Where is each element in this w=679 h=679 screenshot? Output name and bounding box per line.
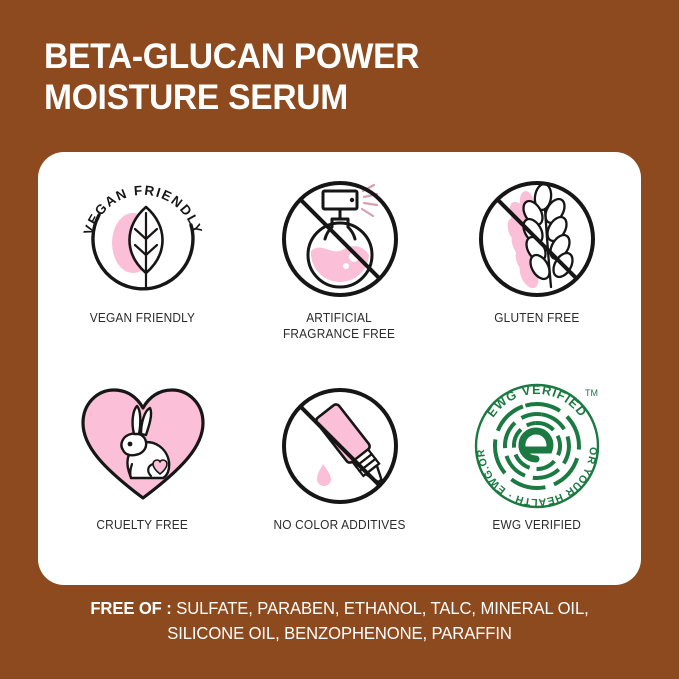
- rabbit-in-heart-icon: [68, 373, 218, 513]
- title-line-1: BETA-GLUCAN POWER: [44, 36, 620, 77]
- badge-label-gluten-free: GLUTEN FREE: [494, 310, 579, 326]
- badge-label-no-color-additives: NO COLOR ADDITIVES: [273, 517, 405, 533]
- badge-label-artificial-fragrance-free: ARTIFICIAL FRAGRANCE FREE: [283, 310, 395, 342]
- badge-cell-cruelty-free: CRUELTY FREE: [44, 373, 241, 580]
- badge-label-line-2: FRAGRANCE FREE: [283, 326, 395, 342]
- ewg-seal-trademark: TM: [585, 388, 598, 398]
- badge-label-cruelty-free: CRUELTY FREE: [97, 517, 189, 533]
- free-of-block: FREE OF : SULFATE, PARABEN, ETHANOL, TAL…: [0, 596, 679, 646]
- ewg-verified-seal-icon: EWG VERIFIED FOR YOUR HEALTH · EWG.ORG T…: [462, 373, 612, 513]
- badge-cell-ewg-verified: EWG VERIFIED FOR YOUR HEALTH · EWG.ORG T…: [438, 373, 635, 580]
- badge-cell-gluten-free: GLUTEN FREE: [438, 166, 635, 373]
- badge-label-ewg-verified: EWG VERIFIED: [492, 517, 581, 533]
- product-infographic: BETA-GLUCAN POWER MOISTURE SERUM: [0, 0, 679, 679]
- free-of-line-1: FREE OF : SULFATE, PARABEN, ETHANOL, TAL…: [17, 596, 662, 621]
- badge-card: VEGAN FRIENDLY VEGAN FRIENDLY: [38, 152, 641, 585]
- wheat-stalk-icon: [462, 166, 612, 306]
- leaf-in-circle-icon: VEGAN FRIENDLY: [68, 166, 218, 306]
- badge-label-line-1: ARTIFICIAL: [283, 310, 395, 326]
- perfume-spray-bottle-icon: [265, 166, 415, 306]
- badge-grid: VEGAN FRIENDLY VEGAN FRIENDLY: [38, 152, 641, 585]
- title-line-2: MOISTURE SERUM: [44, 77, 620, 118]
- badge-cell-no-color-additives: NO COLOR ADDITIVES: [241, 373, 438, 580]
- dropper-tube-with-drop-icon: [265, 373, 415, 513]
- free-of-line-2: SILICONE OIL, BENZOPHENONE, PARAFFIN: [17, 621, 662, 646]
- badge-cell-artificial-fragrance-free: ARTIFICIAL FRAGRANCE FREE: [241, 166, 438, 373]
- badge-label-vegan-friendly: VEGAN FRIENDLY: [90, 310, 195, 326]
- page-title: BETA-GLUCAN POWER MOISTURE SERUM: [44, 36, 644, 118]
- free-of-prefix: FREE OF :: [90, 598, 171, 618]
- badge-cell-vegan-friendly: VEGAN FRIENDLY VEGAN FRIENDLY: [44, 166, 241, 373]
- free-of-ingredients-line-1: SULFATE, PARABEN, ETHANOL, TALC, MINERAL…: [176, 598, 588, 618]
